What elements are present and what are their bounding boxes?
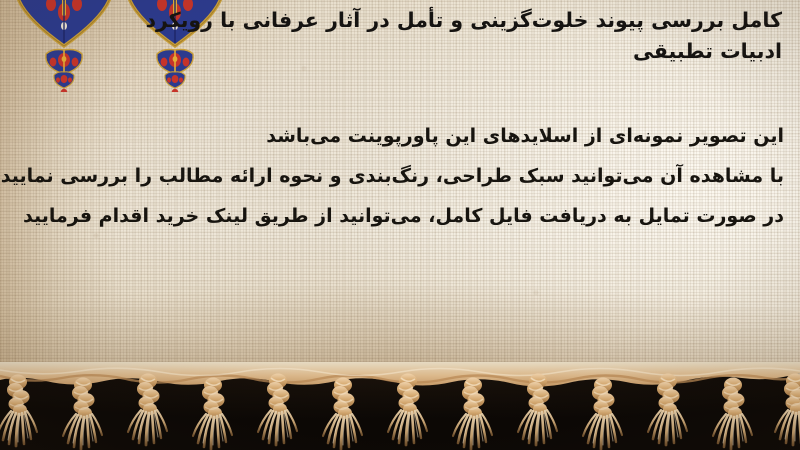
slide-title: کامل بررسی پیوند خلوت‌گزینی و تأمل در آث…	[222, 4, 782, 67]
body-line-1: این تصویر نمونه‌ای از اسلایدهای این پاور…	[14, 116, 784, 156]
body-line-2: با مشاهده آن می‌توانید سبک طراحی، رنگ‌بن…	[14, 156, 784, 196]
illumination-medallion-icon-left	[10, 0, 118, 92]
title-line-2: ادبیات تطبیقی	[222, 35, 782, 67]
body-line-3: در صورت تمایل به دریافت فایل کامل، می‌تو…	[14, 196, 784, 236]
slide-canvas: کامل بررسی پیوند خلوت‌گزینی و تأمل در آث…	[0, 0, 800, 450]
slide-body: این تصویر نمونه‌ای از اسلایدهای این پاور…	[14, 116, 784, 236]
tassel-fringe-icon	[0, 362, 800, 450]
title-line-1: کامل بررسی پیوند خلوت‌گزینی و تأمل در آث…	[222, 4, 782, 36]
